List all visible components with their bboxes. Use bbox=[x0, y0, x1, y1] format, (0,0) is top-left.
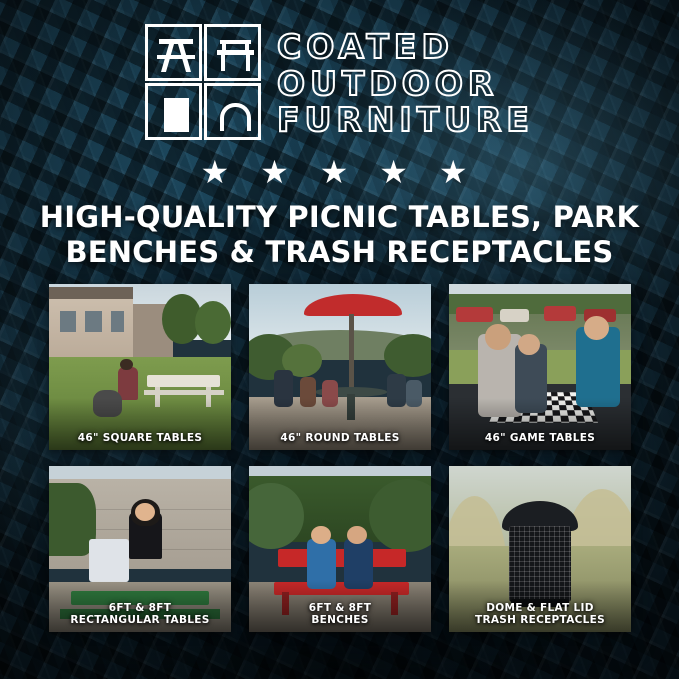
park-bench-icon bbox=[204, 24, 261, 81]
page-title: HIGH-QUALITY PICNIC TABLES, PARK BENCHES… bbox=[0, 200, 679, 271]
tile-caption: 46" GAME TABLES bbox=[449, 432, 631, 444]
product-tile-benches[interactable]: 6FT & 8FT BENCHES bbox=[249, 466, 431, 632]
tile-caption: DOME & FLAT LID TRASH RECEPTACLES bbox=[449, 602, 631, 626]
product-tile-round-tables[interactable]: 46" ROUND TABLES bbox=[249, 284, 431, 450]
brand-word-furniture: FURNITURE bbox=[277, 103, 534, 138]
brand-logo: COATED OUTDOOR FURNITURE bbox=[0, 24, 679, 140]
caption-line-1: 6FT & 8FT bbox=[49, 602, 231, 614]
tile-caption: 6FT & 8FT RECTANGULAR TABLES bbox=[49, 602, 231, 626]
tile-caption: 46" SQUARE TABLES bbox=[49, 432, 231, 444]
caption-line-1: 6FT & 8FT bbox=[249, 602, 431, 614]
product-tile-trash-receptacles[interactable]: DOME & FLAT LID TRASH RECEPTACLES bbox=[449, 466, 631, 632]
product-tile-square-tables[interactable]: 46" SQUARE TABLES bbox=[49, 284, 231, 450]
caption-line-1: 46" GAME TABLES bbox=[449, 432, 631, 444]
brand-word-coated: COATED bbox=[277, 30, 534, 65]
caption-line-1: 46" SQUARE TABLES bbox=[49, 432, 231, 444]
tile-caption: 46" ROUND TABLES bbox=[249, 432, 431, 444]
brand-wordmark: COATED OUTDOOR FURNITURE bbox=[277, 26, 534, 138]
logo-icon-grid bbox=[145, 24, 261, 140]
flat-lid-trash-can-icon bbox=[145, 83, 202, 140]
caption-line-1: 46" ROUND TABLES bbox=[249, 432, 431, 444]
product-tile-grid: 46" SQUARE TABLES bbox=[49, 284, 631, 632]
caption-line-2: BENCHES bbox=[249, 614, 431, 626]
picnic-table-icon bbox=[145, 24, 202, 81]
headline-line-2: BENCHES & TRASH RECEPTACLES bbox=[0, 235, 679, 270]
dome-lid-trash-can-icon bbox=[204, 83, 261, 140]
product-poster: COATED OUTDOOR FURNITURE ★ ★ ★ ★ ★ HIGH-… bbox=[0, 0, 679, 679]
product-tile-game-tables[interactable]: 46" GAME TABLES bbox=[449, 284, 631, 450]
product-tile-rectangular-tables[interactable]: 6FT & 8FT RECTANGULAR TABLES bbox=[49, 466, 231, 632]
tile-caption: 6FT & 8FT BENCHES bbox=[249, 602, 431, 626]
caption-line-1: DOME & FLAT LID bbox=[449, 602, 631, 614]
caption-line-2: TRASH RECEPTACLES bbox=[449, 614, 631, 626]
star-rating: ★ ★ ★ ★ ★ bbox=[0, 156, 679, 188]
headline-line-1: HIGH-QUALITY PICNIC TABLES, PARK bbox=[0, 200, 679, 235]
brand-word-outdoor: OUTDOOR bbox=[277, 67, 534, 102]
caption-line-2: RECTANGULAR TABLES bbox=[49, 614, 231, 626]
